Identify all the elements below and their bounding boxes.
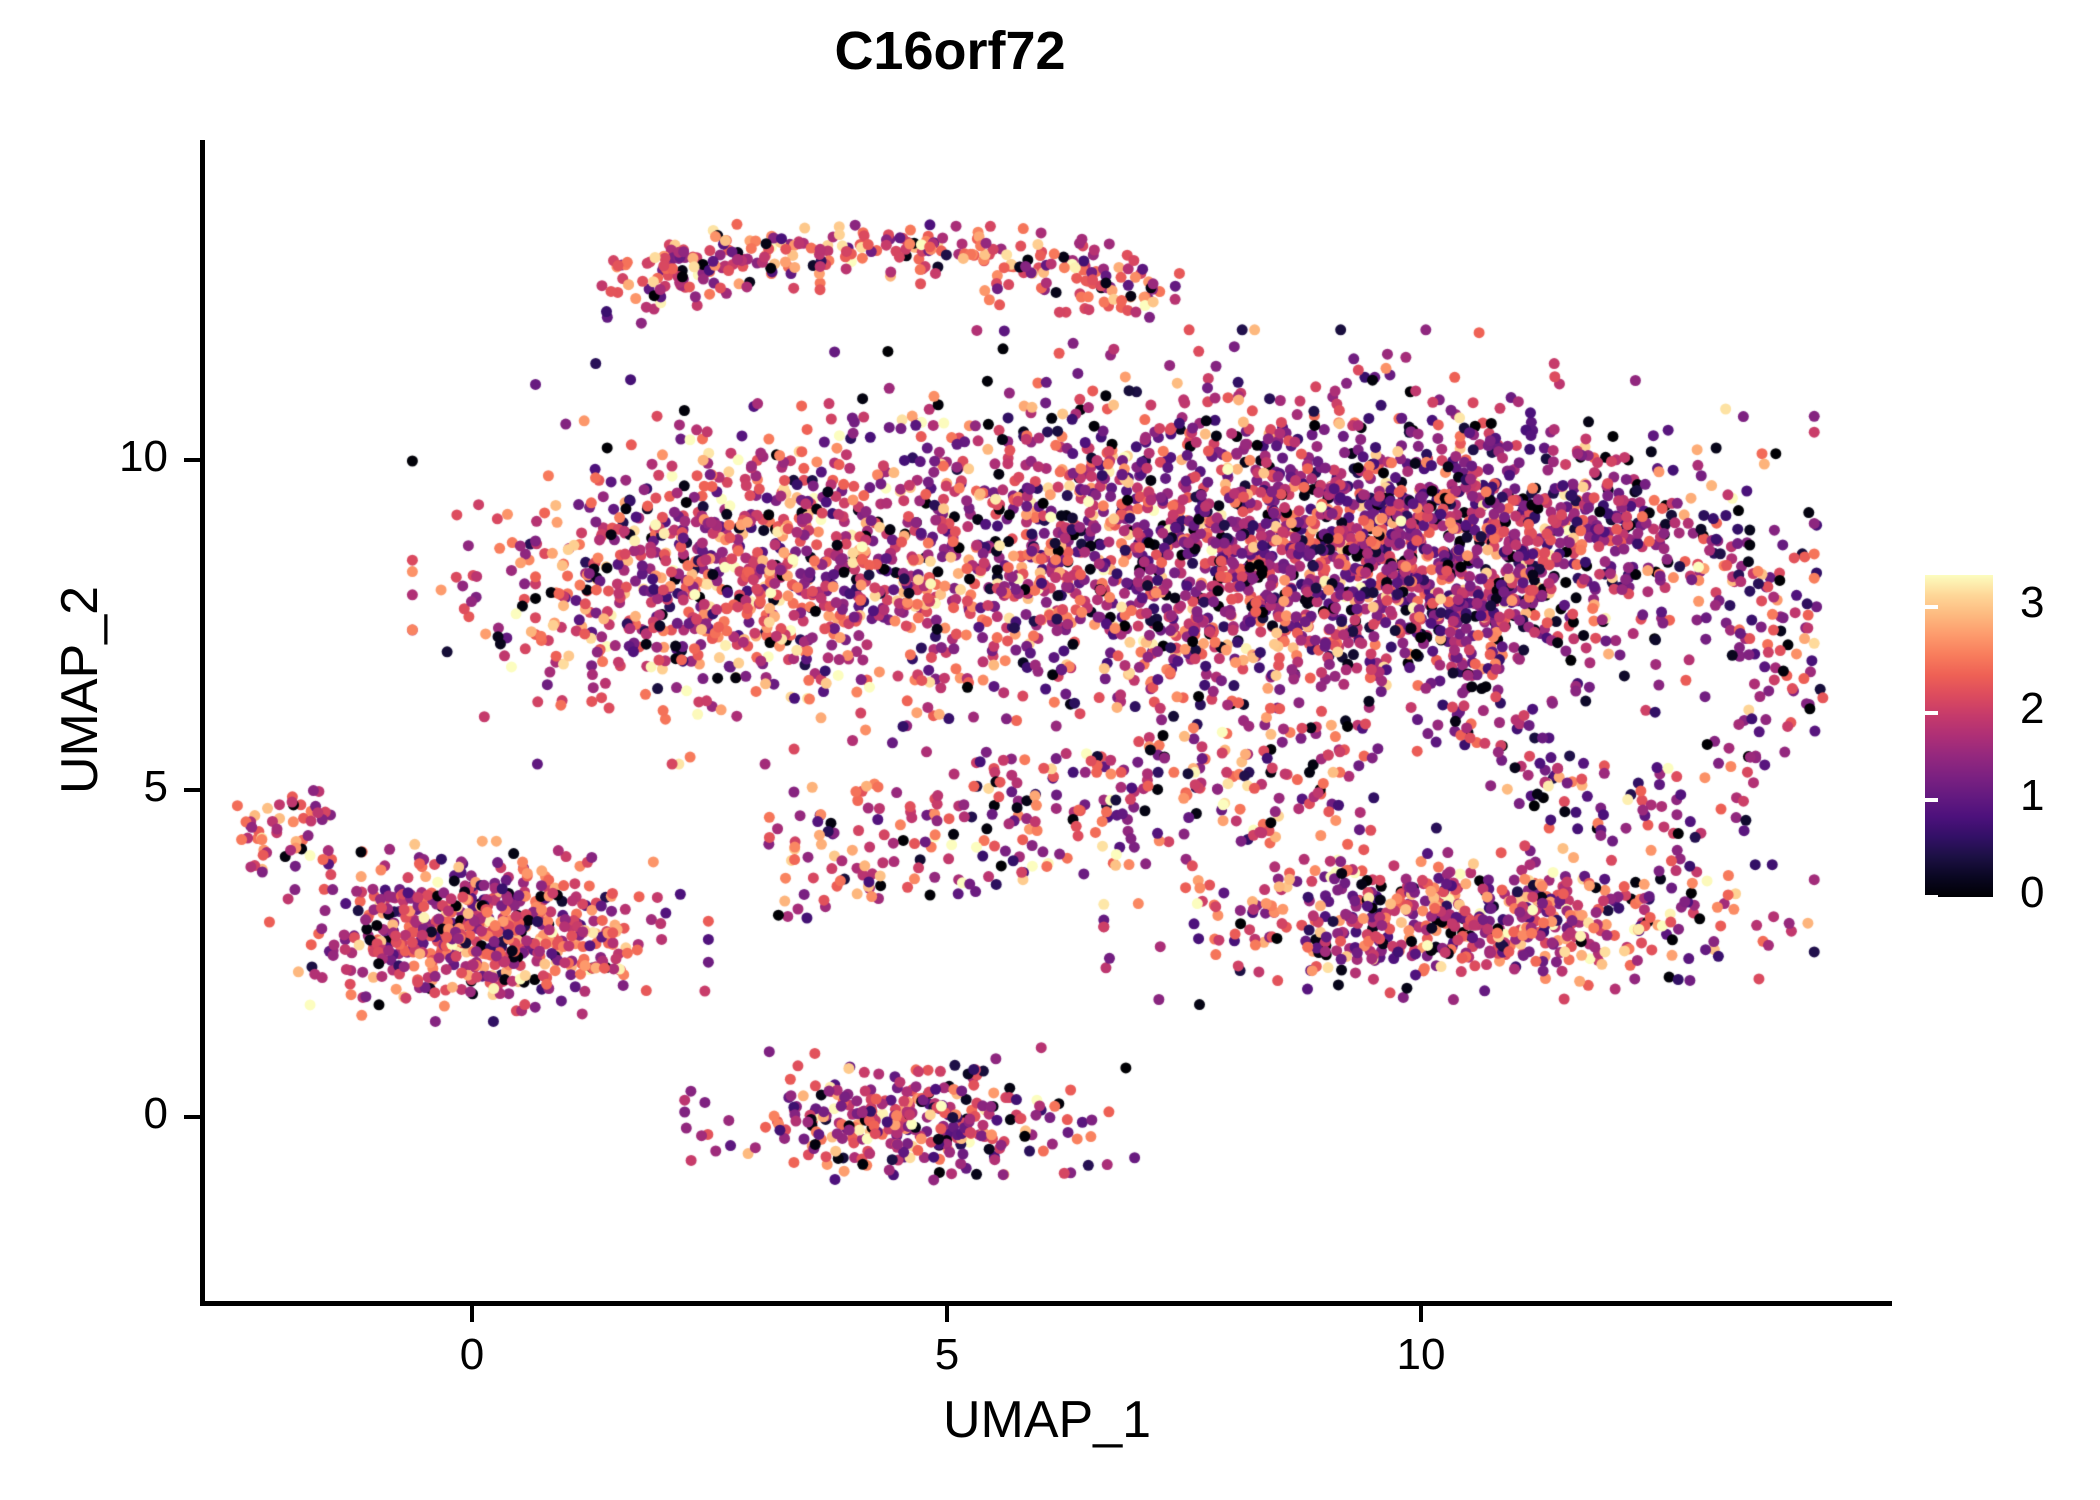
y-tick-mark	[184, 788, 200, 792]
y-tick-mark	[184, 1115, 200, 1119]
colorbar-tick-mark	[2087, 798, 2100, 802]
colorbar-tick-mark	[1925, 711, 1938, 715]
umap-feature-plot: C16orf72 10500510 UMAP_1 UMAP_2 3210	[0, 0, 2100, 1500]
scatter-points-canvas	[204, 140, 1890, 1303]
colorbar-tick-label: 0	[2020, 871, 2044, 915]
plot-panel	[204, 140, 1890, 1303]
x-tick-label: 5	[847, 1330, 1047, 1380]
colorbar-tick-mark	[2087, 895, 2100, 899]
x-tick-label: 0	[372, 1330, 572, 1380]
colorbar-tick-mark	[1925, 798, 1938, 802]
colorbar-tick-mark	[2087, 711, 2100, 715]
y-tick-label: 0	[0, 1089, 168, 1139]
x-tick-mark	[1419, 1306, 1423, 1322]
y-tick-mark	[184, 458, 200, 462]
x-tick-label: 10	[1321, 1330, 1521, 1380]
x-tick-mark	[470, 1306, 474, 1322]
colorbar	[1925, 575, 1993, 897]
colorbar-legend: 3210	[1925, 575, 2100, 905]
y-axis-title: UMAP_2	[50, 290, 110, 1090]
page-title: C16orf72	[0, 22, 1900, 81]
colorbar-tick-mark	[1925, 895, 1938, 899]
colorbar-tick-mark	[2087, 605, 2100, 609]
colorbar-tick-label: 1	[2020, 774, 2044, 818]
colorbar-tick-label: 2	[2020, 687, 2044, 731]
colorbar-tick-label: 3	[2020, 581, 2044, 625]
x-axis-title: UMAP_1	[204, 1390, 1890, 1450]
colorbar-tick-mark	[1925, 605, 1938, 609]
x-tick-mark	[945, 1306, 949, 1322]
x-axis-line	[200, 1301, 1892, 1306]
colorbar-gradient	[1925, 575, 1993, 897]
y-axis-line	[200, 140, 205, 1306]
